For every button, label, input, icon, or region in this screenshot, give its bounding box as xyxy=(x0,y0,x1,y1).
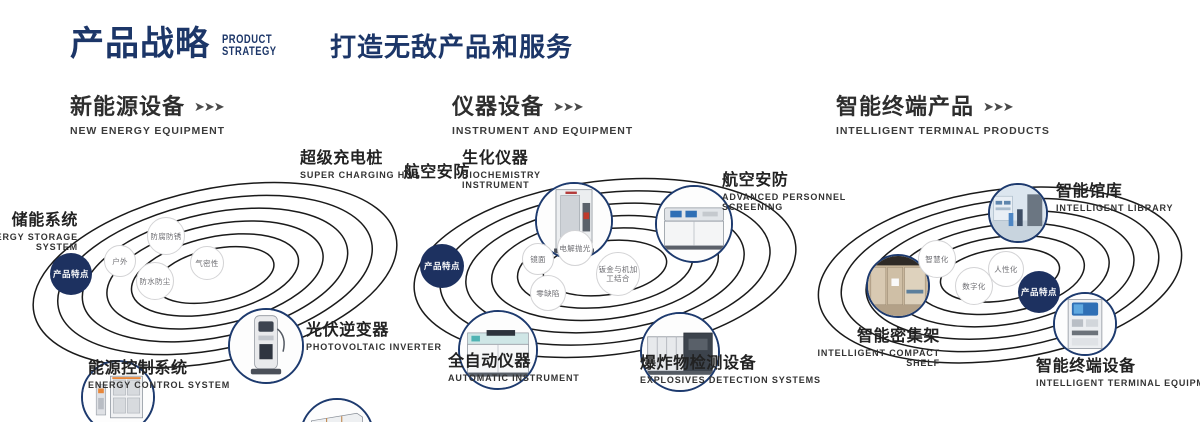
feature-bubble: 人性化 xyxy=(988,251,1024,287)
label-energy-storage-system: 储能系统 ENERGY STORAGESYSTEM xyxy=(0,212,78,252)
feature-bubble-label: 镜面 xyxy=(530,255,546,264)
charging-pile-icon xyxy=(230,310,302,382)
feature-bubble: 数字化 xyxy=(955,267,993,305)
feature-bubble: 防水防尘 xyxy=(136,262,174,300)
label-cn: 储能系统 xyxy=(0,212,78,230)
feature-bubble-label: 气密性 xyxy=(195,259,218,268)
label-automatic-instrument: 全自动仪器 AUTOMATIC INSTRUMENT xyxy=(448,353,580,383)
label-aviation-security-left: 航空安防 xyxy=(340,164,470,182)
feature-bubble: 气密性 xyxy=(190,246,224,280)
feature-bubble-label: 电解抛光 xyxy=(559,244,590,253)
label-cn: 智能密集架 xyxy=(770,328,940,346)
feature-bubble: 户外 xyxy=(104,245,136,277)
page-title-english-line1: PRODUCT xyxy=(222,34,277,46)
smart-library-icon xyxy=(990,185,1046,241)
label-cn: 能源控制系统 xyxy=(88,360,230,378)
cluster-new-energy: 产品特点 户外 防腐防锈 防水防尘 气密性 储能系统 ENERGY STORAG… xyxy=(0,150,420,400)
node-intelligent-terminal-equipment[interactable] xyxy=(1053,292,1117,356)
section-heading-intelligent-terminal: 智能终端产品 ➤➤➤ INTELLIGENT TERMINAL PRODUCTS xyxy=(836,96,1050,137)
chevron-right-icon: ➤➤➤ xyxy=(194,99,224,115)
page-header: 产品战略 PRODUCT STRATEGY xyxy=(70,27,289,61)
label-en: AUTOMATIC INSTRUMENT xyxy=(448,373,580,383)
feature-bubble: 智慧化 xyxy=(918,240,956,278)
core-bubble: 产品特点 xyxy=(420,244,464,288)
feature-bubble-label: 人性化 xyxy=(994,265,1017,274)
label-cn: 航空安防 xyxy=(340,164,470,182)
feature-bubble-label: 户外 xyxy=(112,257,128,266)
node-super-charging-hub[interactable] xyxy=(228,308,304,384)
cluster-instrument: 产品特点 镜面 电解抛光 钣金与机加工结合 零缺陷 航空安防 生化仪器 BIOC… xyxy=(400,150,820,400)
label-energy-control-system: 能源控制系统 ENERGY CONTROL SYSTEM xyxy=(88,360,230,390)
label-en: BIOCHEMISTRYINSTRUMENT xyxy=(462,170,541,190)
section-title-cn: 新能源设备 xyxy=(70,96,185,118)
page-title-english: PRODUCT STRATEGY xyxy=(222,34,277,61)
feature-bubble: 钣金与机加工结合 xyxy=(596,252,640,296)
label-cn: 智能终端设备 xyxy=(1036,358,1200,376)
label-intelligent-terminal-equipment: 智能终端设备 INTELLIGENT TERMINAL EQUIPMENT xyxy=(1036,358,1200,388)
label-en: ENERGY STORAGESYSTEM xyxy=(0,232,78,252)
node-photovoltaic-inverter[interactable] xyxy=(300,398,374,422)
label-intelligent-library: 智能馆库 INTELLIGENT LIBRARY xyxy=(1056,183,1173,213)
label-en: EXPLOSIVES DETECTION SYSTEMS xyxy=(640,375,821,385)
screening-machine-icon xyxy=(657,187,731,261)
core-bubble-label: 产品特点 xyxy=(53,269,89,279)
page-subtitle: 打造无敌产品和服务 xyxy=(330,34,573,60)
section-title-en: NEW ENERGY EQUIPMENT xyxy=(70,125,225,137)
feature-bubble-label: 智慧化 xyxy=(925,255,948,264)
feature-bubble-label: 钣金与机加工结合 xyxy=(597,265,639,283)
product-strategy-infographic: 产品战略 PRODUCT STRATEGY 打造无敌产品和服务 新能源设备 ➤➤… xyxy=(0,0,1200,422)
core-bubble: 产品特点 xyxy=(1018,271,1060,313)
chevron-right-icon: ➤➤➤ xyxy=(553,99,583,115)
label-intelligent-compact-shelf: 智能密集架 INTELLIGENT COMPACTSHELF xyxy=(770,328,940,368)
label-biochemistry-instrument: 生化仪器 BIOCHEMISTRYINSTRUMENT xyxy=(462,150,541,190)
section-title-en: INSTRUMENT AND EQUIPMENT xyxy=(452,125,633,137)
self-service-kiosk-icon xyxy=(1055,294,1115,354)
label-cn: 生化仪器 xyxy=(462,150,541,168)
section-title-en: INTELLIGENT TERMINAL PRODUCTS xyxy=(836,125,1050,137)
cluster-intelligent-terminal: 智慧化 数字化 人性化 产品特点 智能馆库 INTELLIGENT LIBRAR… xyxy=(800,150,1200,400)
core-bubble-label: 产品特点 xyxy=(1021,287,1057,297)
feature-bubble: 电解抛光 xyxy=(557,230,593,266)
page-title: 产品战略 xyxy=(70,27,210,61)
section-heading-instrument: 仪器设备 ➤➤➤ INSTRUMENT AND EQUIPMENT xyxy=(452,96,633,137)
section-heading-new-energy: 新能源设备 ➤➤➤ NEW ENERGY EQUIPMENT xyxy=(70,96,225,137)
feature-bubble-label: 零缺陷 xyxy=(536,289,559,298)
label-en: ENERGY CONTROL SYSTEM xyxy=(88,380,230,390)
feature-bubble: 镜面 xyxy=(522,243,554,275)
feature-bubble: 防腐防锈 xyxy=(147,217,185,255)
feature-bubble-label: 防腐防锈 xyxy=(150,232,181,241)
chevron-right-icon: ➤➤➤ xyxy=(983,99,1013,115)
section-title-cn: 智能终端产品 xyxy=(836,96,974,118)
core-bubble: 产品特点 xyxy=(50,253,92,295)
label-cn: 全自动仪器 xyxy=(448,353,580,371)
label-en: INTELLIGENT LIBRARY xyxy=(1056,203,1173,213)
feature-bubble-label: 防水防尘 xyxy=(139,277,170,286)
node-intelligent-library[interactable] xyxy=(988,183,1048,243)
label-en: INTELLIGENT TERMINAL EQUIPMENT xyxy=(1036,378,1200,388)
label-cn: 智能馆库 xyxy=(1056,183,1173,201)
core-bubble-label: 产品特点 xyxy=(424,261,460,271)
feature-bubble-label: 数字化 xyxy=(962,282,985,291)
feature-bubble: 零缺陷 xyxy=(530,275,566,311)
label-en: INTELLIGENT COMPACTSHELF xyxy=(770,348,940,368)
page-title-english-line2: STRATEGY xyxy=(222,46,277,58)
section-title-cn: 仪器设备 xyxy=(452,96,544,118)
pv-inverter-cabinet-icon xyxy=(302,400,372,422)
